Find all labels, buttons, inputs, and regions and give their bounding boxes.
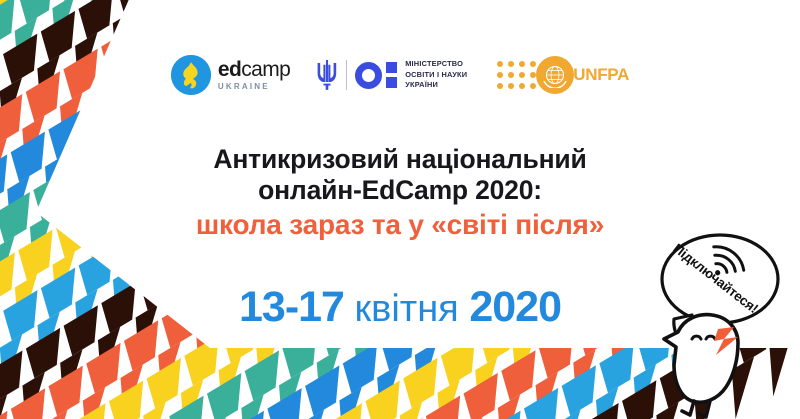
edcamp-wordmark: edcamp bbox=[218, 59, 290, 80]
edcamp-logo: edcamp UKRAINE bbox=[171, 55, 290, 95]
ministry-name: МІНІСТЕРСТВО ОСВІТИ І НАУКИ УКРАЇНИ bbox=[405, 59, 467, 91]
orange-dot-grid-icon bbox=[497, 61, 536, 89]
headline-block: Антикризовий національний онлайн-EdCamp … bbox=[0, 144, 800, 242]
edcamp-flame-icon bbox=[171, 55, 211, 95]
date-range: 13-17 bbox=[239, 283, 344, 331]
mon-squares-icon bbox=[386, 62, 397, 88]
ukraine-trident-icon bbox=[316, 58, 338, 92]
edcamp-subtitle: UKRAINE bbox=[218, 83, 290, 91]
mon-circle-squares-icon bbox=[355, 62, 397, 89]
headline-line-1: Антикризовий національний bbox=[0, 144, 800, 175]
edcamp-word-bold: ed bbox=[218, 58, 241, 81]
logo-divider bbox=[346, 60, 347, 90]
ministry-logo: МІНІСТЕРСТВО ОСВІТИ І НАУКИ УКРАЇНИ bbox=[316, 58, 467, 92]
partner-logos-row: edcamp UKRAINE МІНІСТЕРСТВО ОСВ bbox=[0, 46, 800, 104]
ministry-line-3: УКРАЇНИ bbox=[405, 80, 467, 91]
mon-ring-icon bbox=[355, 62, 382, 89]
ministry-line-1: МІНІСТЕРСТВО bbox=[405, 59, 467, 70]
date-month: квітня bbox=[355, 288, 459, 330]
un-emblem-icon bbox=[536, 56, 574, 94]
ministry-line-2: ОСВІТИ І НАУКИ bbox=[405, 70, 467, 81]
unfpa-logo: UNFPA bbox=[497, 56, 629, 94]
date-year: 2020 bbox=[469, 283, 561, 331]
unfpa-wordmark: UNFPA bbox=[573, 65, 629, 85]
headline-line-2: онлайн-EdCamp 2020: bbox=[0, 175, 800, 206]
edcamp-wordmark-block: edcamp UKRAINE bbox=[218, 59, 290, 91]
edcamp-bird-mascot-icon: Підключайтеся! bbox=[648, 229, 798, 419]
edcamp-word-regular: camp bbox=[241, 58, 290, 81]
poster-canvas: edcamp UKRAINE МІНІСТЕРСТВО ОСВ bbox=[0, 0, 800, 419]
